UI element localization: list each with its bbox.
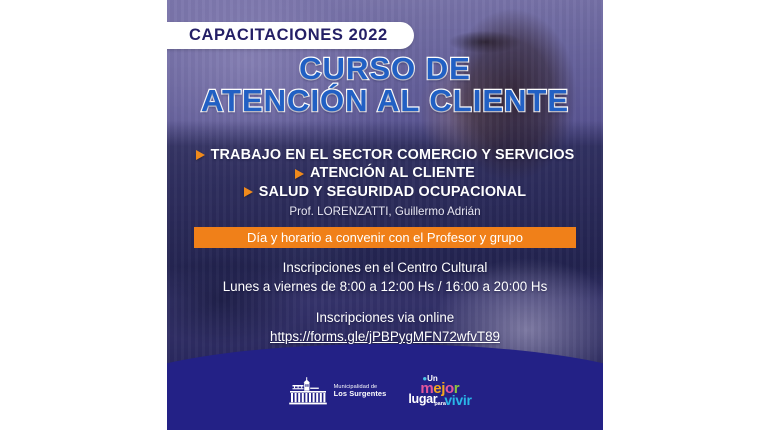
title-line-1: CURSO DE bbox=[167, 53, 603, 85]
spacer bbox=[167, 297, 603, 308]
municipality-logo: Municipalidad de Los Surgentes bbox=[288, 376, 387, 406]
slogan-vivir: vivir bbox=[444, 393, 471, 407]
municipality-name: Municipalidad de Los Surgentes bbox=[334, 384, 387, 399]
schedule-banner: Día y horario a convenir con el Profesor… bbox=[194, 227, 576, 248]
course-topics-list: TRABAJO EN EL SECTOR COMERCIO Y SERVICIO… bbox=[167, 146, 603, 218]
list-item: ATENCIÓN AL CLIENTE bbox=[167, 164, 603, 182]
list-item-label: SALUD Y SEGURIDAD OCUPACIONAL bbox=[259, 183, 526, 201]
list-item-label: TRABAJO EN EL SECTOR COMERCIO Y SERVICIO… bbox=[211, 146, 575, 164]
town-hall-building-icon bbox=[288, 376, 328, 406]
title-line-2: ATENCIÓN AL CLIENTE bbox=[167, 85, 603, 117]
header-badge: CAPACITACIONES 2022 bbox=[167, 22, 414, 49]
instructor-name: Prof. LORENZATTI, Guillermo Adrián bbox=[167, 205, 603, 218]
footer-logos: Municipalidad de Los Surgentes ●Un mejor… bbox=[167, 374, 603, 408]
triangle-right-icon bbox=[196, 150, 205, 160]
registration-hours: Lunes a viernes de 8:00 a 12:00 Hs / 16:… bbox=[167, 277, 603, 296]
online-registration-label: Inscripciones via online bbox=[167, 308, 603, 327]
course-flyer: CAPACITACIONES 2022 CURSO DE ATENCIÓN AL… bbox=[167, 0, 603, 430]
list-item-label: ATENCIÓN AL CLIENTE bbox=[310, 164, 475, 182]
screenshot-root: CAPACITACIONES 2022 CURSO DE ATENCIÓN AL… bbox=[0, 0, 770, 430]
municipality-line-2: Los Surgentes bbox=[334, 390, 387, 398]
slogan-lugar: lugar bbox=[408, 393, 437, 406]
list-item: TRABAJO EN EL SECTOR COMERCIO Y SERVICIO… bbox=[167, 146, 603, 164]
triangle-right-icon bbox=[295, 169, 304, 179]
schedule-banner-label: Día y horario a convenir con el Profesor… bbox=[247, 230, 523, 245]
registration-info: Inscripciones en el Centro Cultural Lune… bbox=[167, 258, 603, 347]
list-item: SALUD Y SEGURIDAD OCUPACIONAL bbox=[167, 183, 603, 201]
registration-location: Inscripciones en el Centro Cultural bbox=[167, 258, 603, 277]
city-slogan-logo: ●Un mejor lugar para vivir bbox=[408, 374, 482, 408]
header-badge-label: CAPACITACIONES 2022 bbox=[189, 26, 388, 45]
page-title: CURSO DE ATENCIÓN AL CLIENTE bbox=[167, 53, 603, 117]
triangle-right-icon bbox=[244, 187, 253, 197]
